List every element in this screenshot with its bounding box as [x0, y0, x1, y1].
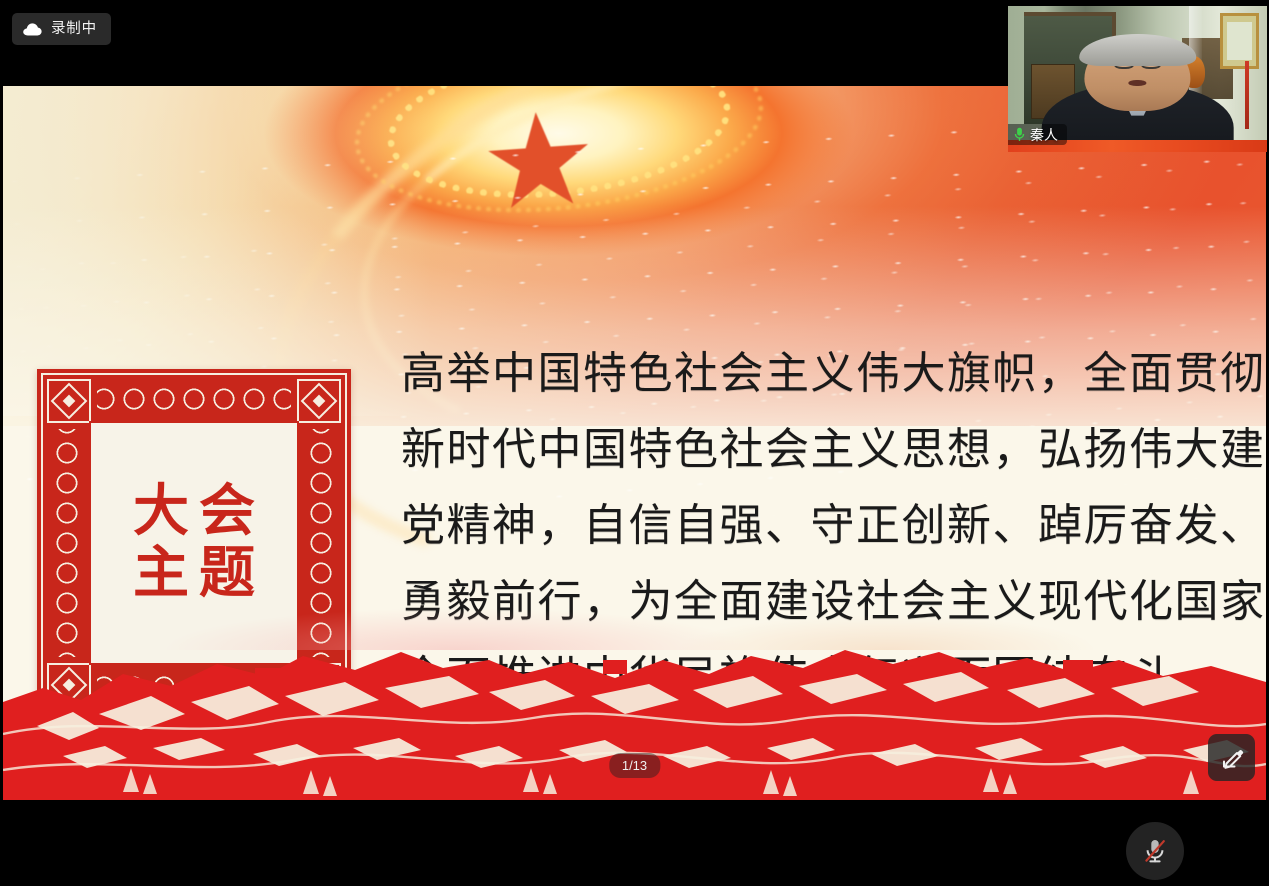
self-view-video[interactable]: 秦人 — [1008, 6, 1267, 152]
cloud-icon — [23, 23, 42, 36]
pencil-annotate-icon — [1219, 745, 1245, 771]
slide-text-line: 党精神，自信自强、守正创新、踔厉奋发、 — [401, 488, 1231, 564]
page-indicator: 1/13 — [609, 753, 660, 778]
shared-slide[interactable]: 大 会 主 题 高举中国特色社会主义伟大旗帜，全面贯彻 新时代中国特色社会主义思… — [3, 86, 1266, 800]
bottom-toolbar — [0, 800, 1269, 886]
frame-corner-top-left — [47, 379, 91, 423]
participant-name-tag: 秦人 — [1008, 124, 1067, 145]
mute-toggle-button[interactable] — [1126, 822, 1184, 880]
recording-badge: 录制中 — [12, 13, 111, 45]
microphone-icon — [1014, 127, 1025, 142]
frame-band-top — [97, 381, 291, 417]
annotate-button[interactable] — [1208, 734, 1255, 781]
slide-text-line: 新时代中国特色社会主义思想，弘扬伟大建 — [401, 412, 1231, 488]
participant-mouth — [1128, 80, 1146, 87]
frame-corner-top-right — [297, 379, 341, 423]
theme-char-2: 会 — [199, 482, 255, 542]
participant-name-label: 秦人 — [1030, 128, 1058, 142]
microphone-off-icon — [1140, 836, 1170, 866]
slide-text-line: 高举中国特色社会主义伟大旗帜，全面贯彻 — [401, 336, 1231, 412]
screen-share-viewer: 录制中 — [0, 0, 1269, 886]
recording-label: 录制中 — [51, 22, 97, 37]
theme-char-1: 大 — [133, 482, 189, 542]
participant-hair — [1079, 34, 1196, 66]
